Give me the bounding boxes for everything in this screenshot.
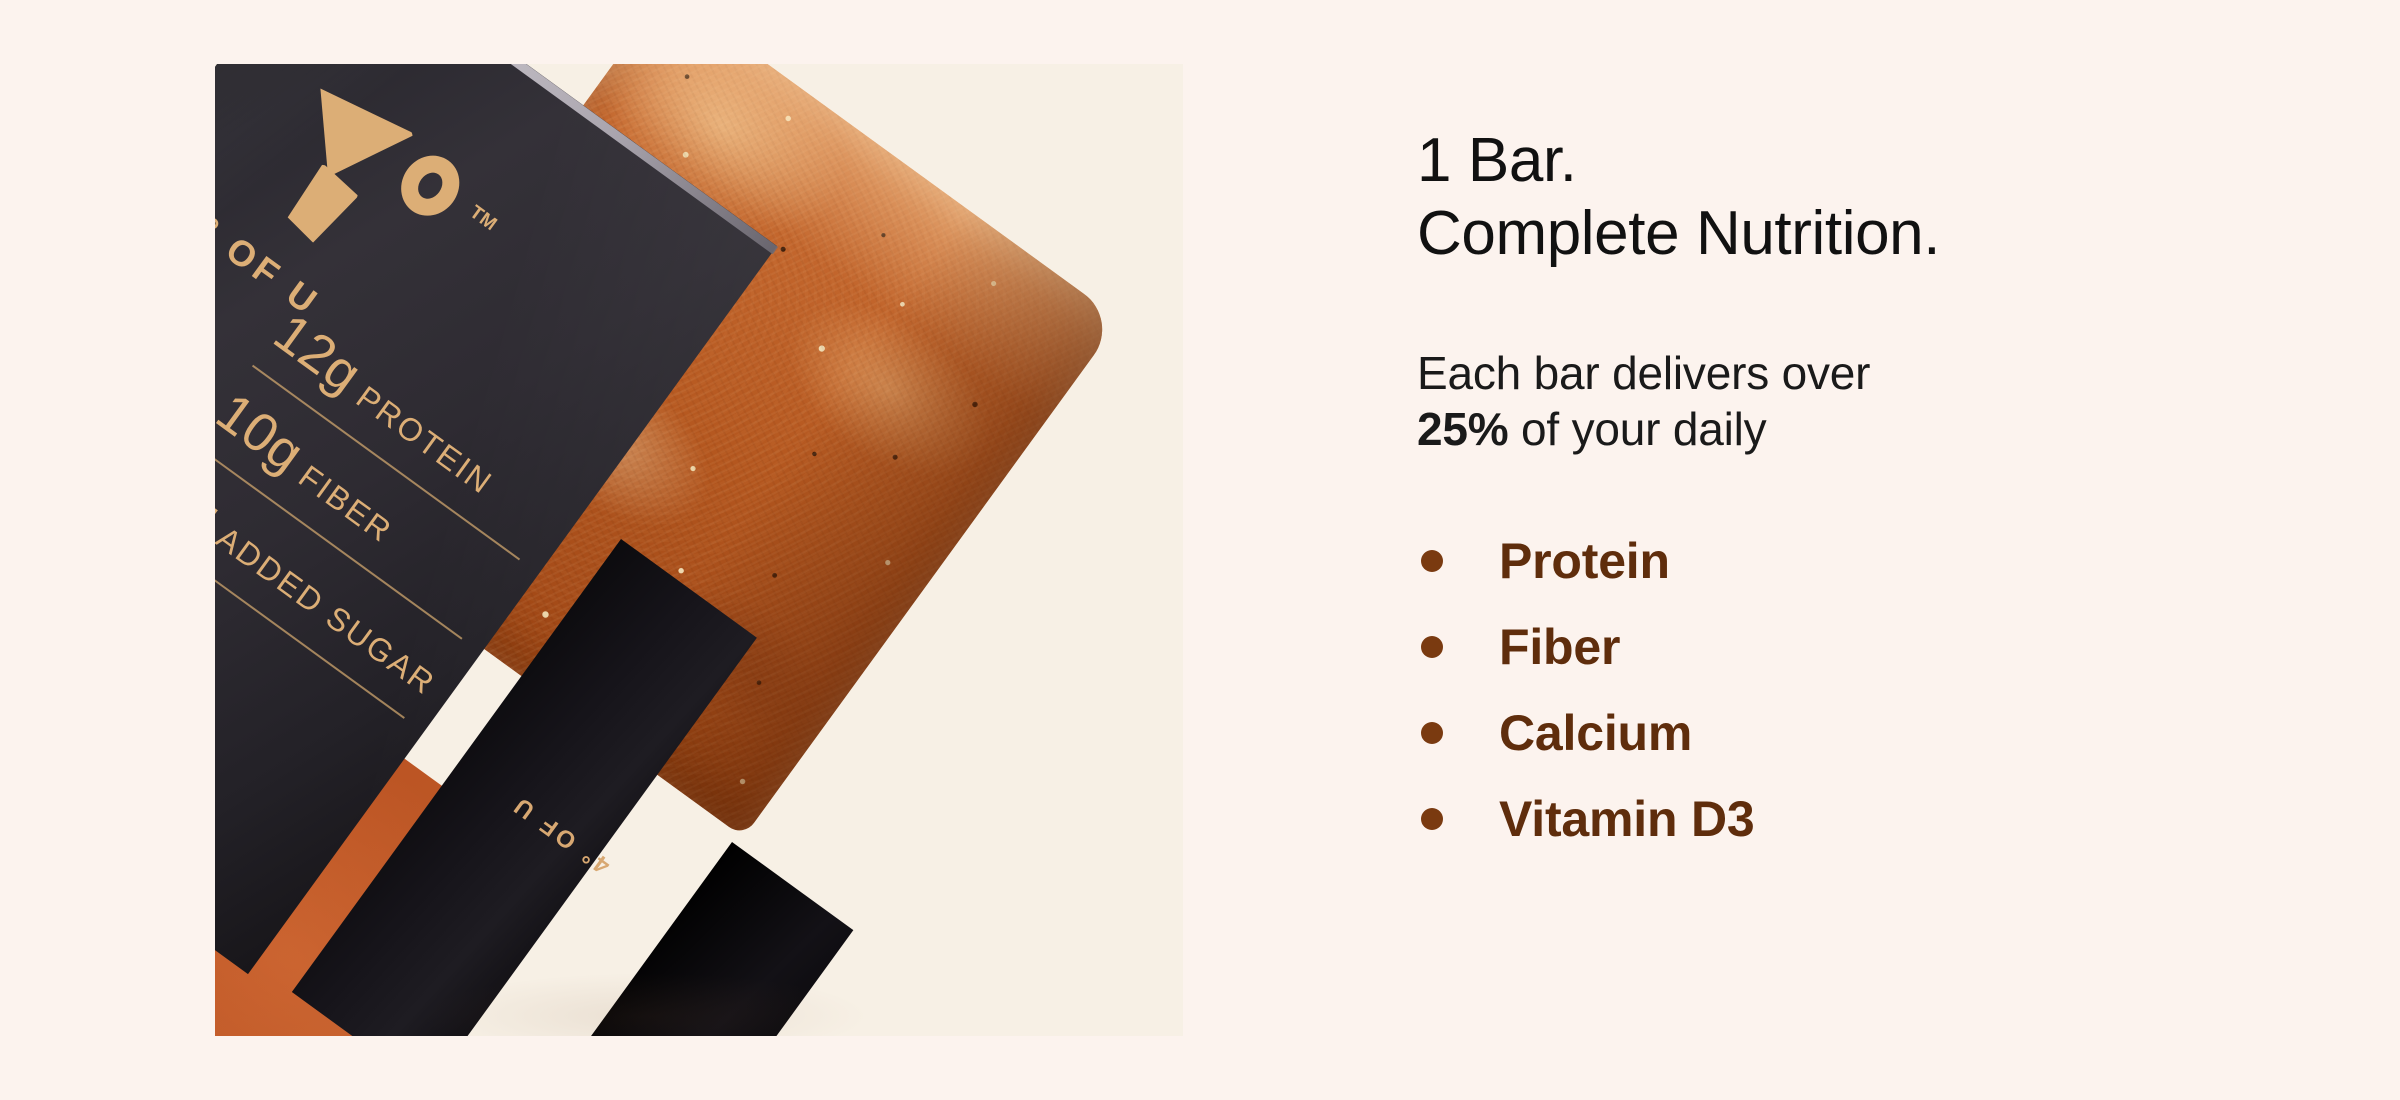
page-root: 4° OF U TM 4° OF U DARK CHOCOLATE <box>0 0 2400 1100</box>
nutrition-name: FIBER <box>292 458 399 550</box>
subcopy-line-1: Each bar delivers over <box>1417 347 1870 399</box>
product-image-panel: 4° OF U TM 4° OF U DARK CHOCOLATE <box>215 64 1183 1036</box>
benefits-list: Protein Fiber Calcium Vitamin D3 <box>1417 518 2277 862</box>
nutrition-facts-list: 12gPROTEIN 10gFIBER 0gADDED SUGAR <box>215 302 566 734</box>
subcopy-highlight: 25% <box>1417 403 1508 455</box>
bullet-icon <box>1421 550 1443 572</box>
subcopy-line-2-rest: of your daily <box>1508 403 1766 455</box>
list-item: Vitamin D3 <box>1417 776 2277 862</box>
product-box: 4° OF U TM 4° OF U DARK CHOCOLATE <box>217 246 977 1036</box>
list-item: Fiber <box>1417 604 2277 690</box>
bullet-icon <box>1421 808 1443 830</box>
benefit-label: Protein <box>1499 536 1670 586</box>
logo-triangle-lower <box>279 161 362 248</box>
subcopy-line-2: 25% of your daily <box>1417 402 2277 458</box>
list-item: Protein <box>1417 518 2277 604</box>
list-item: Calcium <box>1417 690 2277 776</box>
logo-triangle-upper <box>281 73 416 204</box>
logo-degree-circle-icon <box>389 144 471 227</box>
product-scene: 4° OF U TM 4° OF U DARK CHOCOLATE <box>215 64 1183 1036</box>
nutrition-amount: 12g <box>263 302 372 404</box>
bullet-icon <box>1421 722 1443 744</box>
copy-column: 1 Bar. Complete Nutrition. Each bar deli… <box>1417 124 2277 862</box>
headline-line-2: Complete Nutrition. <box>1417 197 2277 270</box>
benefit-label: Vitamin D3 <box>1499 794 1755 844</box>
headline-line-1: 1 Bar. <box>1417 126 1577 195</box>
benefit-label: Calcium <box>1499 708 1692 758</box>
bullet-icon <box>1421 636 1443 658</box>
subcopy: Each bar delivers over 25% of your daily <box>1417 346 2277 457</box>
trademark-symbol: TM <box>465 202 501 237</box>
four-degrees-logo-icon: TM <box>244 69 454 279</box>
brand-tagline-side: 4° OF U <box>460 755 663 913</box>
product-contact-shadow <box>335 956 955 1036</box>
benefit-label: Fiber <box>1499 622 1620 672</box>
page-title: 1 Bar. Complete Nutrition. <box>1417 124 2277 270</box>
